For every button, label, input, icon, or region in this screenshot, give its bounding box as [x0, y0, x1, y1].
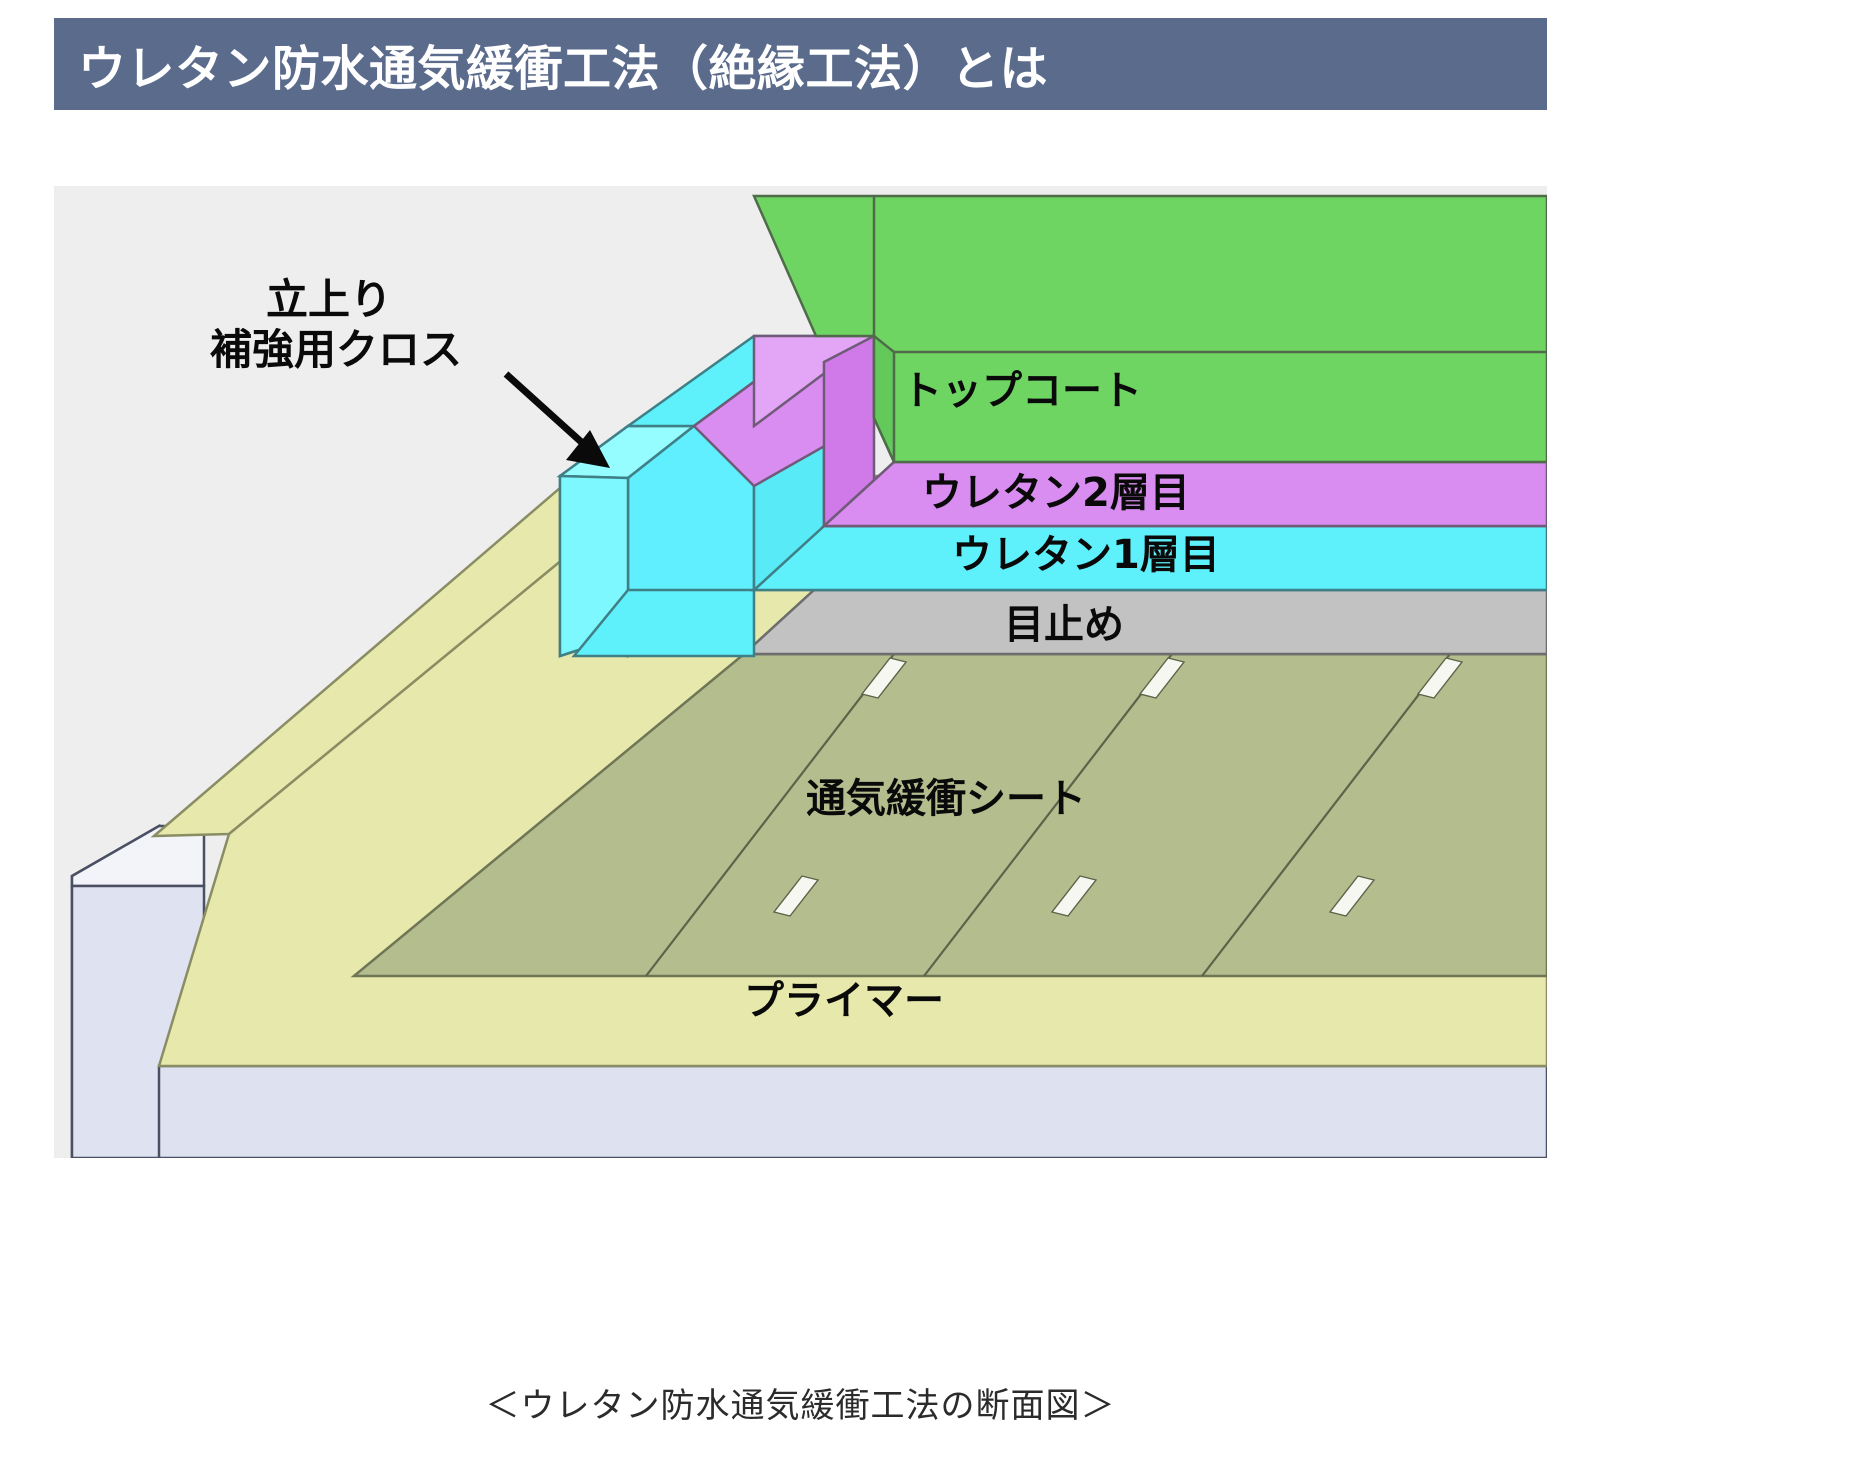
cross-section-diagram: 立上り 補強用クロス トップコート ウレタン2層目 ウレタン1層目 目止め 通気… [54, 186, 1547, 1158]
figure-caption: ＜ウレタン防水通気緩衝工法の断面図＞ [54, 1378, 1547, 1427]
callout-line-2: 補強用クロス [210, 325, 462, 374]
label-sealer: 目止め [1004, 602, 1124, 648]
label-top-coat: トップコート [902, 368, 1142, 414]
page-root: ウレタン防水通気緩衝工法（絶縁工法）とは [0, 0, 1874, 1474]
label-urethane-1: ウレタン1層目 [952, 532, 1220, 578]
page-title: ウレタン防水通気緩衝工法（絶縁工法）とは [54, 29, 1048, 99]
label-urethane-2: ウレタン2層目 [922, 470, 1190, 516]
page-header-banner: ウレタン防水通気緩衝工法（絶縁工法）とは [54, 18, 1547, 110]
layer-sealer [744, 590, 1547, 654]
label-vent-sheet: 通気緩衝シート [806, 776, 1086, 822]
label-primer: プライマー [744, 978, 944, 1024]
callout-line-1: 立上り [266, 275, 392, 324]
